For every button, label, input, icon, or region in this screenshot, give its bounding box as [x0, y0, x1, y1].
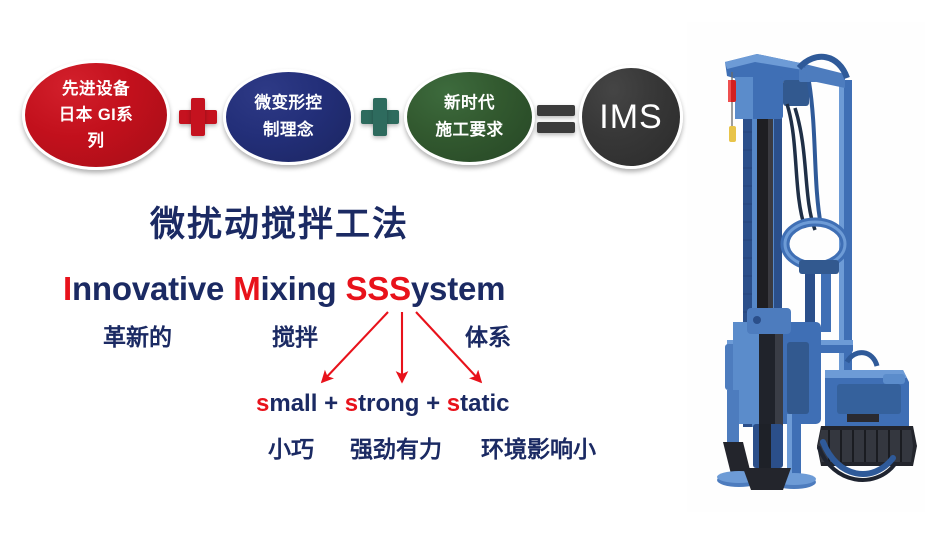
title-part: ystem	[411, 270, 505, 307]
terms-english-line: small + strong + static	[256, 390, 510, 418]
term-initial-static: s	[447, 390, 460, 417]
bubble-ims-result: IMS	[579, 65, 683, 169]
bubble-advanced-equipment: 先进设备 日本 GI系 列	[22, 60, 170, 170]
terms-chinese-row: 小巧 强劲有力 环境影响小	[0, 430, 660, 464]
bubble-line: 新时代	[444, 90, 495, 117]
term-chinese-static: 环境影响小	[481, 430, 596, 464]
page-title-chinese: 微扰动搅拌工法	[150, 196, 409, 247]
bubble-line: 微变形控	[255, 90, 323, 117]
equals-icon	[537, 98, 575, 136]
plus-icon-bar-vertical	[373, 98, 387, 136]
term-initial-strong: s	[345, 390, 358, 417]
arrow-group	[280, 308, 510, 390]
arrow-to-static	[416, 312, 481, 382]
bubble-new-era-requirements: 新时代 施工要求	[404, 69, 535, 165]
title-part: SSS	[345, 270, 410, 307]
term-rest-small: mall	[269, 390, 317, 417]
bubble-micro-deformation-control: 微变形控 制理念	[223, 69, 354, 165]
rig-main-body	[733, 308, 821, 430]
plus-icon	[179, 98, 217, 136]
formula-row: 先进设备 日本 GI系 列 微变形控 制理念 新时代 施工要求 IMS	[18, 58, 678, 180]
plus-icon	[361, 98, 399, 136]
page-title-english: Innovative Mixing SSSystem	[63, 270, 505, 308]
bubble-line: 列	[88, 128, 105, 154]
title-part: M	[233, 270, 260, 307]
term-chinese-small: 小巧	[268, 430, 314, 464]
equals-icon-bar-bottom	[537, 122, 575, 133]
term-initial-small: s	[256, 390, 269, 417]
title-part: ixing	[260, 270, 345, 307]
equals-icon-bar-top	[537, 105, 575, 116]
title-part: I	[63, 270, 72, 307]
drilling-rig-photo	[687, 22, 925, 512]
drilling-rig-illustration	[687, 22, 925, 512]
title-part: nnovative	[72, 270, 233, 307]
bubble-line: IMS	[599, 99, 662, 135]
arrows-svg	[280, 308, 510, 390]
arrow-to-small	[322, 312, 388, 382]
term-rest-static: tatic	[460, 390, 509, 417]
term-rest-strong: trong	[358, 390, 419, 417]
slide-canvas: 先进设备 日本 GI系 列 微变形控 制理念 新时代 施工要求 IMS	[0, 0, 939, 533]
term-separator: +	[426, 390, 440, 417]
bubble-line: 先进设备	[62, 76, 130, 102]
plus-icon-bar-vertical	[191, 98, 205, 136]
bubble-line: 施工要求	[436, 117, 504, 144]
term-chinese-strong: 强劲有力	[350, 430, 442, 464]
term-separator: +	[324, 390, 338, 417]
gloss-innovative: 革新的	[103, 318, 172, 352]
bubble-line: 制理念	[263, 117, 314, 144]
bubble-line: 日本 GI系	[59, 102, 134, 128]
